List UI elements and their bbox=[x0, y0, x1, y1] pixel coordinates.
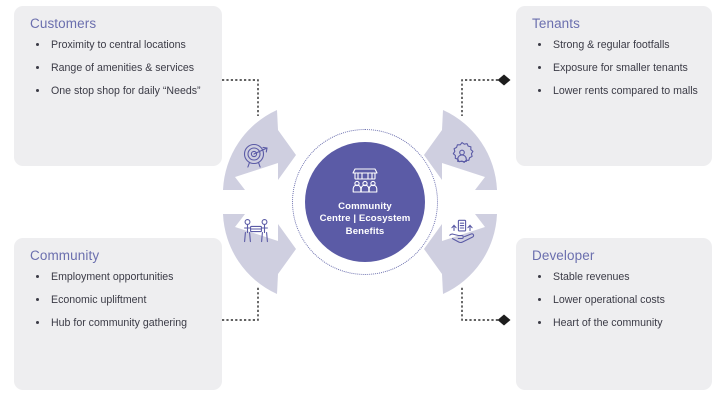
list-item: Hub for community gathering bbox=[28, 316, 208, 330]
bullet-dot bbox=[36, 43, 39, 46]
bullet-list-community: Employment opportunities Economic uplift… bbox=[28, 270, 208, 331]
list-item: Stable revenues bbox=[530, 270, 698, 284]
panel-title-tenants: Tenants bbox=[532, 16, 698, 31]
bullet-dot bbox=[538, 298, 541, 301]
bullet-list-tenants: Strong & regular footfalls Exposure for … bbox=[530, 38, 698, 99]
center-label-line-3: Benefits bbox=[320, 226, 411, 239]
list-item: Lower operational costs bbox=[530, 293, 698, 307]
center-hub: Community Centre | Ecosystem Benefits bbox=[305, 142, 425, 262]
bullet-text: Strong & regular footfalls bbox=[553, 39, 670, 51]
panel-title-customers: Customers bbox=[30, 16, 208, 31]
bullet-text: Range of amenities & services bbox=[51, 62, 194, 74]
bullet-list-developer: Stable revenues Lower operational costs … bbox=[530, 270, 698, 331]
bullet-dot bbox=[538, 43, 541, 46]
panel-developer: Developer Stable revenues Lower operatio… bbox=[516, 238, 712, 390]
bullet-text: Proximity to central locations bbox=[51, 39, 186, 51]
bullet-text: Lower rents compared to malls bbox=[553, 85, 698, 97]
list-item: One stop shop for daily “Needs” bbox=[28, 84, 208, 98]
list-item: Strong & regular footfalls bbox=[530, 38, 698, 52]
bullet-dot bbox=[36, 66, 39, 69]
target-bullseye-icon bbox=[241, 140, 271, 170]
bullet-dot bbox=[36, 275, 39, 278]
bullet-text: Employment opportunities bbox=[51, 271, 173, 283]
hand-coins-growth-icon bbox=[447, 217, 477, 247]
two-people-carrying-icon bbox=[241, 217, 271, 247]
bullet-text: Lower operational costs bbox=[553, 294, 665, 306]
list-item: Economic upliftment bbox=[28, 293, 208, 307]
center-hub-label: Community Centre | Ecosystem Benefits bbox=[312, 201, 419, 239]
connector-developer bbox=[462, 286, 511, 326]
list-item: Exposure for smaller tenants bbox=[530, 61, 698, 75]
bullet-dot bbox=[538, 321, 541, 324]
gear-person-icon bbox=[447, 140, 477, 170]
bullet-dot bbox=[36, 321, 39, 324]
bullet-text: Economic upliftment bbox=[51, 294, 146, 306]
market-stall-people-icon bbox=[348, 166, 382, 195]
bullet-list-customers: Proximity to central locations Range of … bbox=[28, 38, 208, 99]
bullet-dot bbox=[538, 275, 541, 278]
bullet-text: One stop shop for daily “Needs” bbox=[51, 85, 201, 97]
center-label-line-1: Community bbox=[320, 201, 411, 214]
diagram-canvas: Community Centre | Ecosystem Benefits bbox=[0, 0, 720, 403]
bullet-text: Stable revenues bbox=[553, 271, 630, 283]
list-item: Employment opportunities bbox=[28, 270, 208, 284]
bullet-dot bbox=[36, 298, 39, 301]
bullet-text: Heart of the community bbox=[553, 317, 663, 329]
list-item: Heart of the community bbox=[530, 316, 698, 330]
panel-title-community: Community bbox=[30, 248, 208, 263]
bullet-text: Exposure for smaller tenants bbox=[553, 62, 688, 74]
panel-tenants: Tenants Strong & regular footfalls Expos… bbox=[516, 6, 712, 166]
list-item: Range of amenities & services bbox=[28, 61, 208, 75]
list-item: Proximity to central locations bbox=[28, 38, 208, 52]
center-label-line-2: Centre | Ecosystem bbox=[320, 213, 411, 226]
bullet-text: Hub for community gathering bbox=[51, 317, 187, 329]
panel-community: Community Employment opportunities Econo… bbox=[14, 238, 222, 390]
bullet-dot bbox=[538, 66, 541, 69]
panel-customers: Customers Proximity to central locations… bbox=[14, 6, 222, 166]
bullet-dot bbox=[538, 89, 541, 92]
panel-title-developer: Developer bbox=[532, 248, 698, 263]
list-item: Lower rents compared to malls bbox=[530, 84, 698, 98]
connector-tenants bbox=[462, 75, 511, 117]
bullet-dot bbox=[36, 89, 39, 92]
